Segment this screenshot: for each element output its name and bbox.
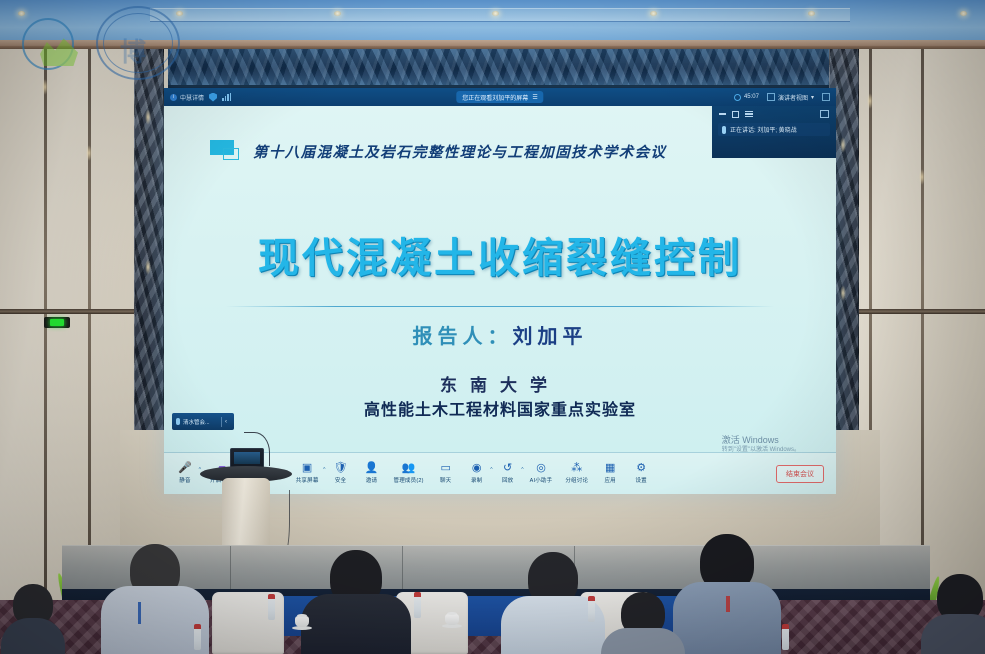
water-bottle — [268, 594, 275, 620]
green-mountain-logo-watermark — [18, 8, 104, 78]
toolbar-item-breakout-rooms[interactable]: ⁂ 分组讨论 — [565, 463, 588, 484]
ceiling-light-strip — [150, 8, 850, 22]
conference-hall-photo: i 中慧详情 您正在观看刘加平的屏幕 ☰ 45:07 演讲者视图 ▾ — [0, 0, 985, 654]
presenter-name: 刘加平 — [513, 326, 588, 348]
toolbar-item-apps[interactable]: ▦ 应用 — [601, 463, 619, 484]
presenter-line: 报告人：刘加平 — [164, 320, 836, 349]
toolbar-item-settings[interactable]: ⚙ 设置 — [632, 463, 650, 484]
downlight — [650, 11, 657, 16]
toolbar-item-chat[interactable]: ▭ 聊天 — [437, 463, 455, 484]
toolbar-label: 聊天 — [440, 476, 451, 484]
pip-participant-tile[interactable]: 清水管会... ‹ — [172, 413, 234, 430]
toolbar-item-security[interactable]: 🛡 安全 — [332, 463, 350, 484]
toolbar-item-participants[interactable]: 👥 管理成员(2) — [394, 463, 424, 484]
audience-member — [600, 592, 686, 654]
speaking-label: 正在讲话: 刘加平; 黄晓战 — [730, 125, 797, 134]
downlight — [960, 11, 967, 16]
chevron-up-icon[interactable]: ^ — [490, 467, 492, 473]
toolbar-item-record[interactable]: ◉ 录制 ^ — [468, 463, 486, 484]
toolbar-label: 安全 — [335, 476, 346, 484]
microphone-icon — [176, 418, 180, 425]
university-seal-watermark: 博 — [96, 6, 180, 80]
toolbar-label: 回放 — [502, 476, 513, 484]
water-bottle — [782, 624, 789, 650]
pin-icon[interactable] — [820, 110, 829, 118]
invite-person-icon: 👤 — [365, 463, 379, 474]
pip-prev-icon[interactable]: ‹ — [221, 417, 230, 427]
audience-member — [672, 534, 782, 654]
sharing-badge-label: 您正在观看刘加平的屏幕 — [462, 93, 528, 102]
chevron-down-icon: ▾ — [811, 94, 814, 101]
audience-member — [300, 550, 412, 654]
toolbar-label: 应用 — [604, 476, 615, 484]
speaking-indicator: 正在讲话: 刘加平; 黄晓战 — [718, 123, 830, 136]
participants-icon: 👥 — [402, 463, 416, 474]
water-bottle — [414, 592, 421, 618]
screen-share-icon: ▣ — [302, 463, 312, 474]
view-mode-label: 演讲者视图 — [778, 93, 808, 102]
chevron-up-icon[interactable]: ^ — [521, 467, 523, 473]
meeting-topbar: i 中慧详情 您正在观看刘加平的屏幕 ☰ 45:07 演讲者视图 ▾ — [164, 88, 836, 106]
toolbar-item-ai-assistant[interactable]: ◎ AI小助手 — [530, 463, 553, 484]
slide-title: 现代混凝土收缩裂缝控制 — [164, 224, 836, 284]
shield-icon: 🛡 — [334, 463, 348, 474]
screen-sharing-badge[interactable]: 您正在观看刘加平的屏幕 ☰ — [456, 91, 543, 103]
end-meeting-button[interactable]: 结束会议 — [776, 465, 824, 483]
toolbar-label: 共享屏幕 — [296, 476, 319, 484]
conference-banner: 第十八届混凝土及岩石完整性理论与工程加固技术学术会议 — [210, 140, 666, 162]
microphone-icon — [722, 126, 726, 134]
toolbar-label: 分组讨论 — [565, 476, 588, 484]
toolbar-item-mute[interactable]: 🎤 静音 ^ — [176, 463, 194, 484]
network-status-label: 中慧详情 — [180, 93, 204, 102]
minimize-icon[interactable] — [719, 113, 726, 114]
info-icon: i — [170, 94, 177, 101]
conference-banner-text: 第十八届混凝土及岩石完整性理论与工程加固技术学术会议 — [253, 141, 666, 162]
network-status-chip[interactable]: i 中慧详情 — [170, 93, 204, 102]
downlight — [808, 11, 815, 16]
menu-icon[interactable] — [745, 111, 753, 118]
security-icon[interactable] — [209, 93, 217, 102]
downlight — [334, 11, 341, 16]
laboratory-name: 高性能土木工程材料国家重点实验室 — [164, 396, 836, 420]
shared-slide: 第十八届混凝土及岩石完整性理论与工程加固技术学术会议 现代混凝土收缩裂缝控制 报… — [164, 106, 836, 494]
water-bottle — [194, 624, 201, 650]
sharing-menu-icon[interactable]: ☰ — [532, 94, 537, 101]
maximize-icon[interactable] — [732, 111, 739, 118]
clock-icon — [734, 94, 741, 101]
expand-icon[interactable] — [822, 93, 830, 101]
toolbar-label: 管理成员(2) — [394, 476, 424, 484]
gear-icon: ⚙ — [636, 463, 646, 474]
slide-divider — [226, 306, 774, 307]
meeting-timer: 45:07 — [734, 94, 759, 101]
exit-sign — [44, 317, 70, 328]
audience-member — [0, 584, 66, 654]
toolbar-label: 设置 — [635, 476, 646, 484]
water-bottle — [588, 596, 595, 622]
chat-bubble-icon: ▭ — [440, 463, 450, 474]
video-side-panel: 正在讲话: 刘加平; 黄晓战 — [712, 106, 836, 158]
breakout-rooms-icon: ⁂ — [571, 463, 582, 474]
toolbar-item-invite[interactable]: 👤 邀请 — [363, 463, 381, 484]
record-icon: ◉ — [472, 463, 482, 474]
view-mode-selector[interactable]: 演讲者视图 ▾ — [767, 93, 814, 102]
organization-name: 东南大学 — [164, 371, 836, 396]
signal-bars-icon — [222, 93, 231, 101]
toolbar-center-group: ▣ 共享屏幕 ^ 🛡 安全 👤 邀请 👥 管理成员(2) ▭ — [296, 463, 650, 484]
apps-grid-icon: ▦ — [605, 463, 615, 474]
toolbar-label: 静音 — [179, 476, 190, 484]
ai-assistant-icon: ◎ — [536, 463, 546, 474]
layout-icon — [767, 93, 775, 101]
toolbar-label: AI小助手 — [530, 476, 553, 484]
toolbar-item-replay[interactable]: ↺ 回放 ^ — [499, 463, 517, 484]
toolbar-label: 邀请 — [366, 476, 377, 484]
toolbar-label: 录制 — [471, 476, 482, 484]
conference-logo-icon — [210, 140, 244, 162]
audience-member — [920, 574, 985, 654]
windows-watermark-line1: 激活 Windows — [722, 434, 800, 446]
teacup — [445, 614, 459, 625]
seal-character: 博 — [120, 32, 146, 69]
microphone-icon: 🎤 — [178, 463, 192, 474]
pip-participant-name: 清水管会... — [183, 418, 210, 426]
presenter-label: 报告人： — [413, 326, 513, 348]
downlight — [492, 11, 499, 16]
toolbar-item-share-screen[interactable]: ▣ 共享屏幕 ^ — [296, 463, 319, 484]
chevron-up-icon[interactable]: ^ — [323, 467, 325, 473]
replay-icon: ↺ — [503, 463, 512, 474]
projection-screen: i 中慧详情 您正在观看刘加平的屏幕 ☰ 45:07 演讲者视图 ▾ — [164, 88, 836, 494]
teacup — [295, 616, 309, 627]
timer-label: 45:07 — [744, 94, 759, 100]
